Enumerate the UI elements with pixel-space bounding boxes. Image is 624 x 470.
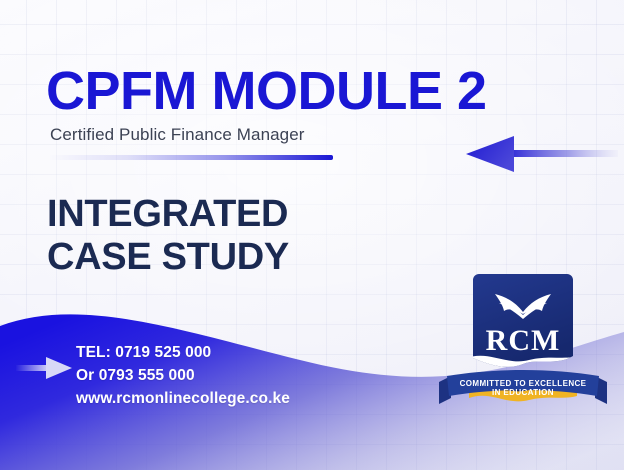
course-heading-line-1: INTEGRATED bbox=[47, 193, 288, 235]
logo-wordmark: RCM bbox=[486, 324, 561, 357]
page-title: CPFM MODULE 2 bbox=[46, 62, 516, 120]
title-underline-rule bbox=[48, 155, 333, 160]
course-heading: INTEGRATED CASE STUDY bbox=[47, 193, 289, 279]
arrow-left-icon bbox=[466, 136, 618, 172]
course-heading-line-2: CASE STUDY bbox=[47, 236, 289, 278]
logo-motto-line-1: COMMITTED TO EXCELLENCE bbox=[460, 379, 587, 388]
promo-poster: CPFM MODULE 2 Certified Public Finance M… bbox=[0, 0, 624, 470]
contact-tel-primary: TEL: 0719 525 000 bbox=[76, 341, 290, 364]
rcm-logo: RCM COMMITTED TO EXCELLENCE IN EDUCATION bbox=[437, 272, 609, 404]
contact-website[interactable]: www.rcmonlinecollege.co.ke bbox=[76, 387, 290, 410]
headline-block: CPFM MODULE 2 Certified Public Finance M… bbox=[46, 62, 516, 160]
logo-motto-line-2: IN EDUCATION bbox=[492, 388, 554, 397]
contact-tel-secondary: Or 0793 555 000 bbox=[76, 364, 290, 387]
page-subtitle: Certified Public Finance Manager bbox=[50, 124, 516, 146]
contact-block: TEL: 0719 525 000 Or 0793 555 000 www.rc… bbox=[76, 341, 290, 410]
arrow-right-icon bbox=[16, 357, 72, 379]
